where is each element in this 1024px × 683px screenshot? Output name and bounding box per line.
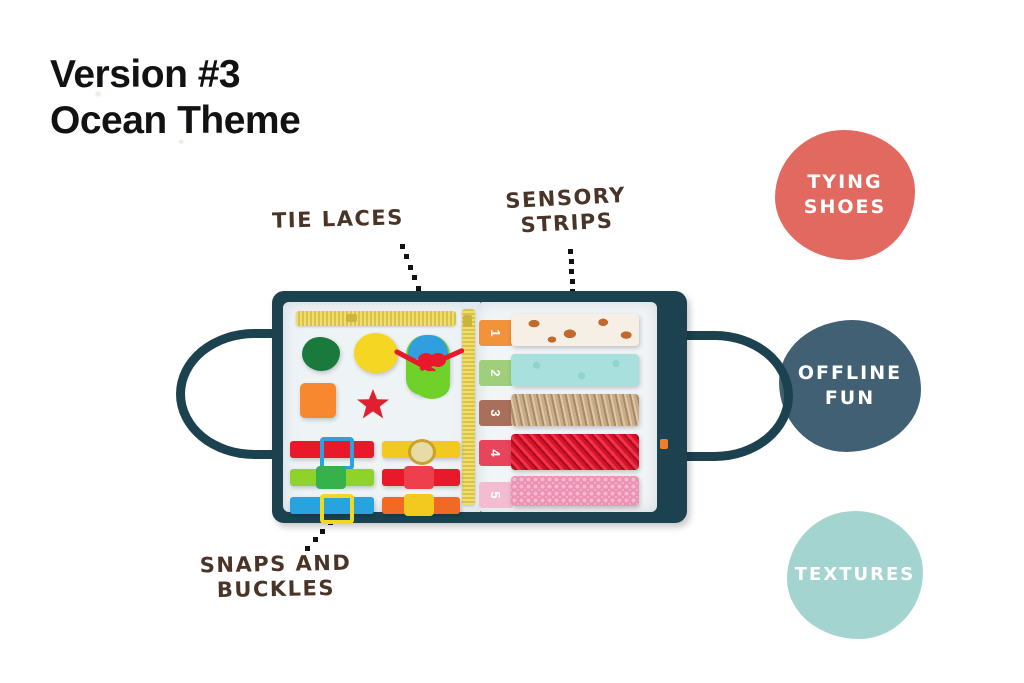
zipper-horizontal bbox=[296, 311, 456, 326]
badge-tying-shoes[interactable]: TYING SHOES bbox=[775, 130, 915, 260]
buckle-yellow-slider bbox=[320, 494, 354, 524]
zipper-pull bbox=[463, 315, 472, 327]
shoe-opening bbox=[414, 371, 450, 399]
sensory-strips-panel: 1 2 3 4 5 bbox=[477, 302, 657, 512]
buckle-red-release bbox=[404, 466, 434, 489]
strip-number-5: 5 bbox=[479, 482, 513, 508]
annotation-label-sensory-strips: SENSORY STRIPS bbox=[505, 183, 628, 240]
strip-number-3: 3 bbox=[479, 400, 513, 426]
shape-orange-square bbox=[300, 383, 336, 418]
zipper-vertical bbox=[462, 309, 475, 505]
edge-tab bbox=[660, 439, 668, 449]
page-title: Version #3 Ocean Theme bbox=[50, 52, 360, 143]
zipper-pull bbox=[346, 314, 357, 322]
shape-green-flower bbox=[302, 337, 340, 371]
sensory-strip-giraffe-print bbox=[511, 314, 639, 346]
buckle-orange-release bbox=[404, 494, 434, 516]
badge-offline-fun[interactable]: OFFLINE FUN bbox=[779, 320, 921, 452]
annotation-label-tie-laces: TIE LACES bbox=[272, 205, 404, 234]
badge-textures[interactable]: TEXTURES bbox=[787, 511, 923, 639]
buckle-metal-clip bbox=[408, 439, 436, 465]
sensory-strip-minky-bubble bbox=[511, 354, 639, 386]
strip-number-1: 1 bbox=[479, 320, 513, 346]
product-photo-busy-book: 1 2 3 4 5 bbox=[170, 275, 790, 530]
sensory-strip-terry-towel bbox=[511, 476, 639, 506]
badge-label: TYING SHOES bbox=[804, 170, 886, 219]
sensory-strip-shaggy-chenille bbox=[511, 394, 639, 426]
strip-number-4: 4 bbox=[479, 440, 513, 466]
badge-label: TEXTURES bbox=[795, 563, 915, 586]
annotation-label-snaps-and-buckles: SNAPS AND BUCKLES bbox=[200, 551, 352, 604]
strip-number-2: 2 bbox=[479, 360, 513, 386]
lacing-shoe bbox=[406, 335, 450, 395]
title-banner: Version #3 Ocean Theme bbox=[22, 30, 368, 163]
lace-bow bbox=[430, 353, 446, 367]
shape-yellow-swirl bbox=[354, 333, 398, 373]
buckle-green-release bbox=[316, 466, 346, 489]
sensory-strip-plush-fur bbox=[511, 434, 639, 470]
badge-label: OFFLINE FUN bbox=[798, 361, 902, 410]
busy-book-case: 1 2 3 4 5 bbox=[272, 291, 687, 523]
